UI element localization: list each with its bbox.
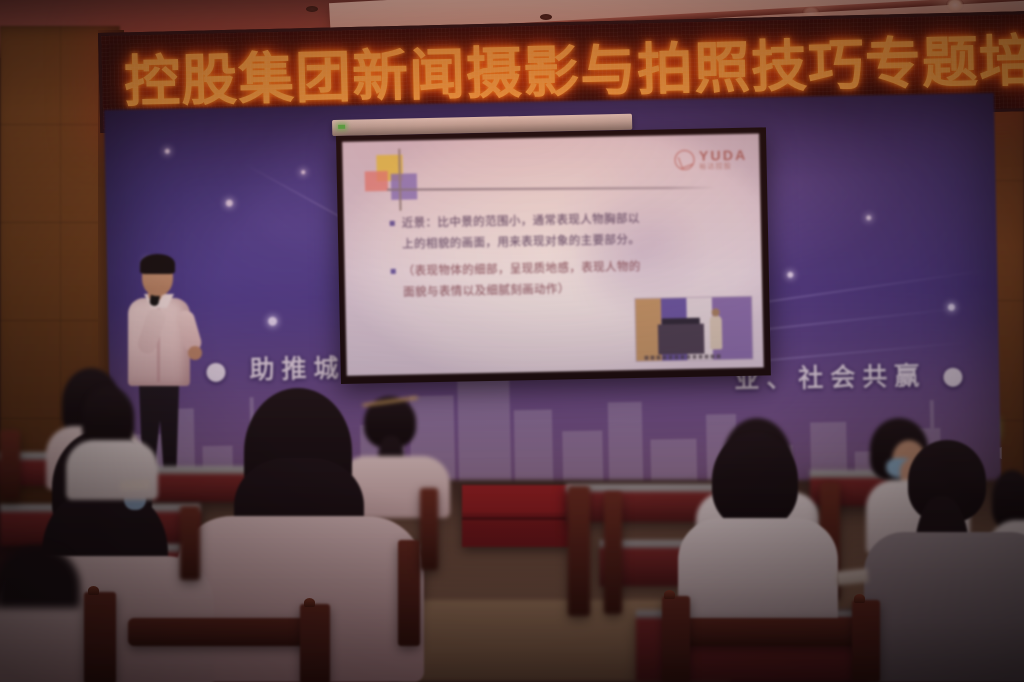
- chair: [568, 486, 590, 616]
- chair: [604, 492, 622, 614]
- yuda-logo-en: YUDA: [699, 148, 748, 163]
- backdrop-star: [787, 272, 793, 278]
- bullet-marker-icon: [391, 269, 396, 274]
- screen-status-led-icon: [338, 125, 345, 129]
- slide-bullet-line: 上的相貌的画面，用来表现对象的主要部分。: [402, 229, 640, 255]
- ceiling-downlight: [306, 6, 318, 12]
- chair-foreground: [180, 506, 200, 580]
- slide-bullet-list: 近景：比中景的范围小，通常表现人物胸部以 上的相貌的画面，用来表现对象的主要部分…: [390, 206, 722, 309]
- example-photo-person: [710, 315, 723, 349]
- chair-knob: [664, 590, 675, 599]
- example-photo-lectern: [658, 324, 705, 355]
- chair-knob: [854, 594, 865, 603]
- audience-torso-grey: [864, 532, 1024, 682]
- paper-on-desk: [120, 479, 150, 491]
- backdrop-star: [301, 170, 305, 174]
- slide-decor-square-purple: [391, 173, 418, 200]
- chair-knob: [88, 586, 99, 595]
- chair-foreground: [662, 596, 690, 682]
- chair-knob: [304, 598, 315, 607]
- presenter-hand-right: [188, 346, 202, 360]
- yuda-logo-cn: 裕达控股: [699, 163, 748, 171]
- conference-hall-photo: 控股集团新闻摄影与拍照技巧专题培训: [0, 0, 1024, 682]
- audience-member-foreground: [672, 432, 842, 632]
- slide-bullet-item: （表现物体的细部，呈现质地感，表现人物的 面貌与表情以及细腻刻画动作）: [391, 254, 722, 303]
- audience-member-foreground: [862, 440, 1024, 680]
- slide-bullet-line: 面貌与表情以及细腻刻画动作）: [403, 277, 641, 303]
- yuda-logo-text: YUDA 裕达控股: [699, 148, 748, 171]
- example-photo-caption: [644, 354, 720, 360]
- slide-example-photo: [634, 296, 753, 362]
- chair-foreground: [84, 592, 116, 682]
- projection-screen: YUDA 裕达控股 近景：比中景的范围小，通常表现人物胸部以 上的相貌的画面，用…: [336, 127, 771, 384]
- slide-decor-square-pink: [365, 171, 388, 191]
- yuda-logo: YUDA 裕达控股: [674, 148, 748, 171]
- slide-bullet-text: 近景：比中景的范围小，通常表现人物胸部以 上的相貌的画面，用来表现对象的主要部分…: [402, 208, 641, 255]
- slide-bullet-text: （表现物体的细部，呈现质地感，表现人物的 面貌与表情以及细腻刻画动作）: [403, 256, 642, 303]
- chair-foreground: [128, 618, 314, 646]
- chair-foreground: [300, 604, 330, 682]
- chair-foreground: [420, 488, 438, 570]
- backdrop-star: [866, 215, 871, 220]
- chair-foreground: [398, 540, 420, 646]
- audience-hair: [82, 386, 134, 448]
- audience-torso: [66, 440, 158, 500]
- slide-bullet-item: 近景：比中景的范围小，通常表现人物胸部以 上的相貌的画面，用来表现对象的主要部分…: [390, 206, 721, 255]
- backdrop-star: [165, 149, 170, 154]
- chair-foreground: [678, 618, 868, 646]
- presenter-hair: [140, 254, 175, 274]
- bullet-marker-icon: [390, 221, 395, 226]
- yuda-logo-mark-icon: [674, 150, 694, 170]
- stage-steps: [462, 485, 572, 547]
- ceiling-downlight: [540, 14, 552, 20]
- backdrop-star: [226, 200, 233, 207]
- audience-head: [712, 432, 798, 528]
- slide-surface: YUDA 裕达控股 近景：比中景的范围小，通常表现人物胸部以 上的相貌的画面，用…: [342, 134, 764, 376]
- chair-foreground: [852, 600, 880, 682]
